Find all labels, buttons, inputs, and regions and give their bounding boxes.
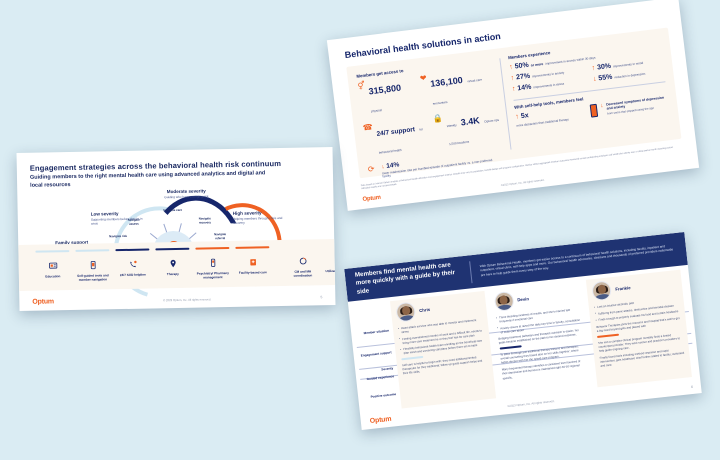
stat-value: 136,100 xyxy=(430,75,464,89)
arrow-up-icon: ↑ xyxy=(510,75,514,82)
percentage-value: 50% xyxy=(514,62,529,71)
building-icon xyxy=(233,256,273,270)
severity-rule xyxy=(499,346,521,350)
spoke-label: Navigate care xyxy=(162,209,184,213)
self-help-value: 5x xyxy=(520,112,529,120)
persona-bullets: Heart attack survivor who was able to mo… xyxy=(398,317,485,355)
avatar xyxy=(591,280,612,301)
service-label: Psychiatry/ Pharmacy management xyxy=(193,271,233,280)
spoke-label: Navigate recovery xyxy=(194,218,216,226)
row-label: Engagement support xyxy=(360,351,392,358)
persona-column-frankie[interactable]: Frankie Lost an intuitive alcoholic pilo… xyxy=(586,270,692,388)
page-subtitle: Guiding members to the right mental heal… xyxy=(30,171,278,191)
percentage-value: 55% xyxy=(598,74,613,83)
arrow-down-icon: ↓ xyxy=(593,76,597,83)
stat-caption: physical xyxy=(371,108,382,113)
percentage-text: improvements in mood xyxy=(613,61,644,69)
service-label: Education xyxy=(33,274,73,279)
percentage-value: 27% xyxy=(516,73,531,82)
avatar xyxy=(395,302,416,323)
slide-member-personas[interactable]: Members find mental health care more qui… xyxy=(344,232,701,430)
page-number: 5 xyxy=(320,295,322,299)
spoke-label: Navigate assess xyxy=(123,219,145,227)
mobile-icon xyxy=(73,259,113,273)
divider xyxy=(277,246,278,284)
circle-icon xyxy=(283,255,323,269)
percentage-bold: or more xyxy=(531,62,544,68)
page-number: 6 xyxy=(691,385,693,389)
stats-right-column: Members experience ↑ 50% or more improve… xyxy=(508,37,672,151)
persona-name: Chris xyxy=(419,307,430,313)
percentage-text: improvement in access within 30 days xyxy=(545,56,596,66)
service-education[interactable]: Education xyxy=(32,250,73,283)
service-self-guided-tools[interactable]: Self-guided tools and member navigation xyxy=(72,249,113,282)
persona-name: Devin xyxy=(517,296,529,302)
person-icon: ⚥ xyxy=(357,82,365,91)
persona-column-chris[interactable]: Chris Heart attack survivor who was able… xyxy=(390,291,496,409)
persona-name: Frankie xyxy=(615,285,631,292)
percentage-value: 30% xyxy=(597,63,612,72)
spoke-label: Navigate risk xyxy=(107,235,129,239)
service-label: Self-guided tools and member navigation xyxy=(73,274,113,283)
arrow-up-icon: ↑ xyxy=(515,113,519,120)
arrow-up-icon: ↑ xyxy=(591,65,595,72)
severity-rule xyxy=(401,356,423,360)
slide-engagement-continuum[interactable]: Engagement strategies across the behavio… xyxy=(17,147,336,311)
row-label: Member situation xyxy=(357,329,389,336)
service-label: Facility-based care xyxy=(233,271,273,276)
percentage-text: reduction in depression xyxy=(614,72,645,80)
copyright-text: © 2023 Optum, Inc. All rights reserved. xyxy=(163,297,211,302)
pill-icon xyxy=(193,256,233,270)
severity-high: High severity Helping members through cr… xyxy=(233,210,285,225)
support-icon: ☎ xyxy=(362,123,373,132)
slide-behavioral-health-stats[interactable]: Behavioral health solutions in action Me… xyxy=(327,0,699,211)
refresh-icon: ⟳ xyxy=(367,165,375,174)
row-label: Positive outcome xyxy=(364,393,396,400)
percentage-value: 14% xyxy=(517,84,532,93)
percentage-text: improvements in stress xyxy=(533,82,564,90)
service-label: CM and MH coordination xyxy=(283,270,323,279)
lock-icon: 🔒 xyxy=(433,115,444,124)
optum-logo: Optum xyxy=(32,298,54,305)
severity-rule xyxy=(597,333,619,337)
severity-moderate: Moderate severity Guiding who have emerg… xyxy=(158,189,214,200)
stat-label: Weekly xyxy=(447,123,457,128)
mobile-icon xyxy=(590,104,599,118)
copyright-text: ©2023 Optum, Inc. All rights reserved. xyxy=(507,399,554,408)
severity-desc: Helping members through crisis and recov… xyxy=(233,216,285,225)
severity-name: Low severity xyxy=(91,211,143,217)
row-label: Severity xyxy=(361,367,393,374)
service-sud-helpline[interactable]: 24/7 SUD helpline xyxy=(112,248,153,277)
service-label: Utilization management xyxy=(323,269,336,274)
service-facility-based-care[interactable]: Facility-based care xyxy=(232,246,273,279)
row-label: Guided experience xyxy=(362,375,394,382)
heart-icon: ❤ xyxy=(419,74,427,83)
optum-logo: Optum xyxy=(370,416,392,425)
divider xyxy=(469,261,472,283)
arrow-up-icon: ↑ xyxy=(512,86,516,93)
service-cm-mh-coordination[interactable]: CM and MH coordination xyxy=(282,245,323,278)
arrow-up-icon: ↑ xyxy=(509,64,513,71)
slide-collage: Behavioral health solutions in action Me… xyxy=(0,0,720,460)
service-label: Therapy xyxy=(153,272,193,277)
education-icon xyxy=(33,259,73,273)
stat-value: 24/7 support xyxy=(376,126,415,138)
service-psychiatry-pharmacy[interactable]: Psychiatry/ Pharmacy management xyxy=(192,247,233,280)
severity-name: High severity xyxy=(233,210,285,216)
avatar xyxy=(493,291,514,312)
clipboard-icon xyxy=(323,254,336,268)
phone-icon xyxy=(113,258,153,272)
service-band: Education Self-guided tools and member n… xyxy=(18,239,335,291)
service-utilization-management[interactable]: Utilization management xyxy=(322,244,335,277)
pin-icon xyxy=(153,257,193,271)
arrow-down-icon: ↓ xyxy=(600,103,604,109)
service-label: 24/7 SUD helpline xyxy=(113,273,153,278)
percentage-text: improvements in anxiety xyxy=(532,71,565,79)
stats-left-column: Members get access to ⚥ 315,800 physical… xyxy=(356,56,510,169)
persona-column-devin[interactable]: Devin Three bleeding incidents of result… xyxy=(488,280,594,398)
slide-footer: Optum © 2023 Optum, Inc. All rights rese… xyxy=(32,293,322,306)
service-therapy[interactable]: Therapy xyxy=(152,248,193,277)
spoke-label: Navigate referral xyxy=(209,233,231,241)
stat-value: 315,800 xyxy=(368,83,402,97)
stat-value: 3.4K xyxy=(460,115,480,127)
